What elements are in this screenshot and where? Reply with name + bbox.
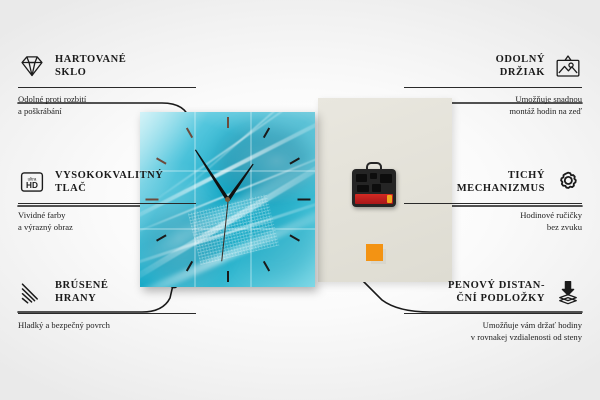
clock-tick: [227, 117, 229, 128]
feature-header: BRÚSENÉ HRANY: [18, 274, 196, 310]
feature-divider: [18, 203, 196, 204]
foam-spacer-pad: [366, 244, 383, 261]
feature-header: HARTOVANÉ SKLO: [18, 48, 196, 84]
foam-spacer-icon: [554, 279, 582, 305]
diamond-icon: [18, 53, 46, 79]
feature-header: PENOVÝ DISTAN- ČNÍ PODLOŽKY: [404, 274, 582, 310]
feature-divider: [18, 87, 196, 88]
clock-tick: [185, 128, 192, 139]
mechanism-detail: [372, 184, 381, 192]
feature-description: Hodinové ručičky bez zvuku: [404, 209, 582, 233]
feature-description: Odolné proti rozbití a poškrábání: [18, 93, 196, 117]
glass-seam: [250, 112, 252, 287]
feature-polished-edges: BRÚSENÉ HRANY Hladký a bezpečný povrch: [18, 274, 196, 331]
feature-title: PENOVÝ DISTAN- ČNÍ PODLOŽKY: [448, 279, 545, 306]
feature-description: Umožňuje vám držať hodiny v rovnakej vzd…: [404, 319, 582, 343]
feature-title: ODOLNÝ DRŽIAK: [496, 53, 545, 80]
feature-high-quality-print: ultra HD VYSOKOKVALITNÝ TLAČ Vividné far…: [18, 164, 196, 233]
feature-divider: [404, 313, 582, 314]
feature-header: ultra HD VYSOKOKVALITNÝ TLAČ: [18, 164, 196, 200]
feature-description: Umožňuje snadnou montáž hodin na zeď: [404, 93, 582, 117]
picture-frame-icon: [554, 53, 582, 79]
gear-icon: [554, 169, 582, 195]
polished-edges-icon: [18, 279, 46, 305]
feature-title: TICHÝ MECHANIZMUS: [457, 169, 545, 196]
feature-foam-spacers: PENOVÝ DISTAN- ČNÍ PODLOŽKY Umožňuje vám…: [404, 274, 582, 343]
ultra-hd-icon: ultra HD: [18, 169, 46, 195]
mechanism-detail: [356, 174, 367, 182]
clock-tick: [227, 271, 229, 282]
mechanism-hanger: [366, 162, 382, 171]
feature-divider: [404, 203, 582, 204]
feature-header: ODOLNÝ DRŽIAK: [404, 48, 582, 84]
mechanism-detail: [370, 173, 377, 179]
feature-divider: [18, 313, 196, 314]
clock-tick: [297, 199, 310, 201]
mechanism-detail: [380, 174, 392, 183]
feature-header: TICHÝ MECHANIZMUS: [404, 164, 582, 200]
feature-title: VYSOKOKVALITNÝ TLAČ: [55, 169, 163, 196]
feature-description: Hladký a bezpečný povrch: [18, 319, 196, 331]
feature-tempered-glass: HARTOVANÉ SKLO Odolné proti rozbití a po…: [18, 48, 196, 117]
mechanism-battery: [355, 194, 393, 204]
feature-silent-mechanism: TICHÝ MECHANIZMUS Hodinové ručičky bez z…: [404, 164, 582, 233]
feature-title: HARTOVANÉ SKLO: [55, 53, 126, 80]
feature-durable-holder: ODOLNÝ DRŽIAK Umožňuje snadnou montáž ho…: [404, 48, 582, 117]
svg-text:HD: HD: [26, 181, 38, 190]
feature-divider: [404, 87, 582, 88]
mechanism-detail: [357, 185, 369, 192]
clock-hub: [225, 197, 230, 202]
infographic-canvas: HARTOVANÉ SKLO Odolné proti rozbití a po…: [0, 0, 600, 400]
clock-mechanism: [352, 169, 396, 207]
feature-description: Vividné farby a výrazný obraz: [18, 209, 196, 233]
feature-title: BRÚSENÉ HRANY: [55, 279, 108, 306]
